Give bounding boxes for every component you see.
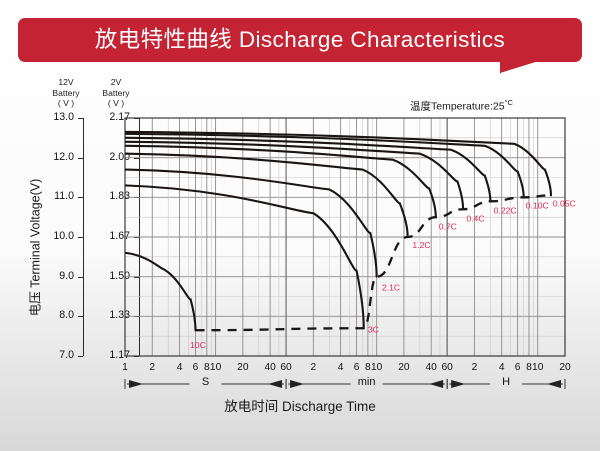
curve-label-2.1C: 2.1C: [382, 283, 400, 293]
plot-canvas: 10C3C2.1C1.2C0.7C0.4C0.22C0.10C0.05C: [0, 70, 600, 451]
range-arrow-left: [451, 380, 465, 388]
page-title: 放电特性曲线 Discharge Characteristics: [95, 29, 505, 52]
range-arrow-right: [429, 380, 443, 388]
title-banner: 放电特性曲线 Discharge Characteristics: [18, 18, 582, 66]
curve-label-0.7C: 0.7C: [439, 221, 457, 231]
curve-label-0.22C: 0.22C: [494, 205, 517, 215]
curve-label-1.2C: 1.2C: [412, 240, 430, 250]
curve-label-0.4C: 0.4C: [466, 213, 484, 223]
curve-label-0.10C: 0.10C: [526, 200, 549, 210]
curve-label-3C: 3C: [368, 324, 379, 334]
curve-label-0.05C: 0.05C: [553, 198, 576, 208]
range-arrow-right: [268, 380, 282, 388]
discharge-chart: 12V Battery ( V ) 2V Battery ( V ) 温度Tem…: [0, 70, 600, 451]
range-arrow-left: [290, 380, 304, 388]
page-root: 放电特性曲线 Discharge Characteristics 12V Bat…: [0, 0, 600, 451]
axis-decorations: [125, 379, 565, 389]
curve-10C: [125, 253, 195, 330]
final-voltage-envelope: [195, 195, 550, 330]
cutoff-envelope: [195, 195, 550, 330]
curve-1.2C: [125, 154, 408, 237]
curve-label-10C: 10C: [190, 340, 206, 350]
discharge-curves: [125, 132, 551, 330]
x-axis-title: 放电时间 Discharge Time: [0, 395, 600, 415]
range-arrow-right: [547, 380, 561, 388]
curve-2.1C: [125, 170, 377, 277]
title-banner-body: 放电特性曲线 Discharge Characteristics: [18, 18, 582, 62]
range-arrow-left: [129, 380, 143, 388]
